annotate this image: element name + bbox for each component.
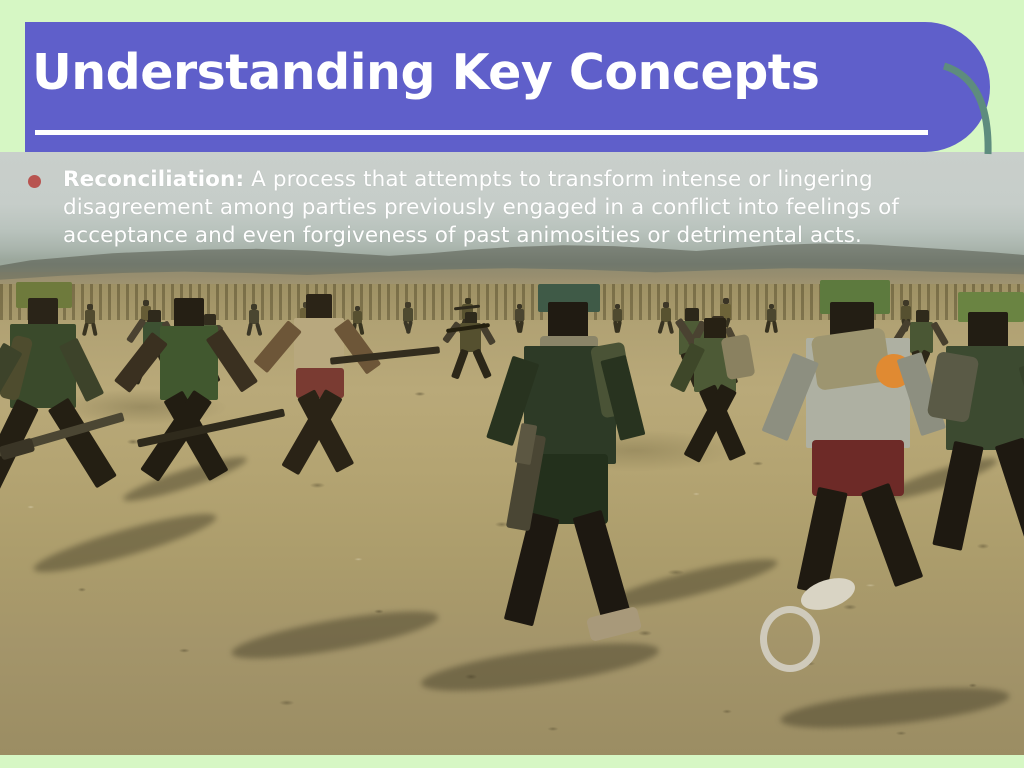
bullet-marker-icon bbox=[28, 175, 41, 188]
bullet-text: Reconciliation: A process that attempts … bbox=[63, 166, 973, 250]
title-underline bbox=[35, 130, 928, 135]
bullet-term: Reconciliation: bbox=[63, 167, 244, 192]
page-title: Understanding Key Concepts bbox=[32, 48, 912, 97]
slide: Understanding Key Concepts Reconciliatio… bbox=[0, 0, 1024, 768]
content-bullet-list: Reconciliation: A process that attempts … bbox=[28, 166, 973, 250]
